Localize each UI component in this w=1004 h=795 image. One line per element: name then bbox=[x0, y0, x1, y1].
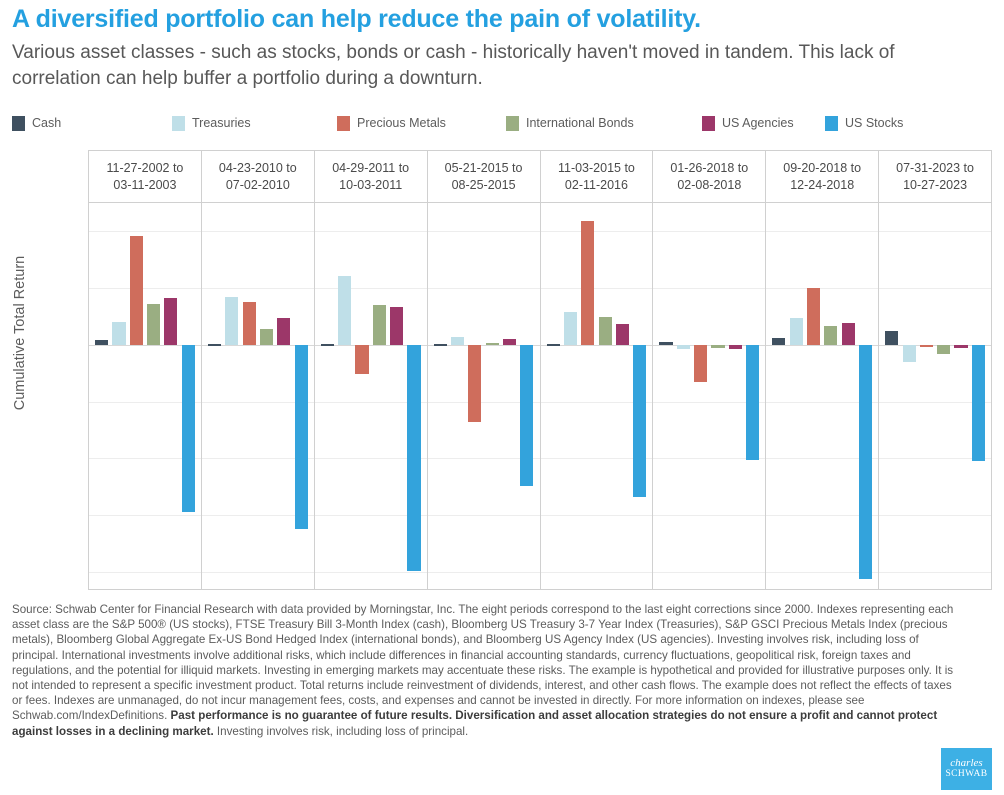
bar-cash bbox=[208, 344, 221, 346]
bar-treasuries bbox=[451, 337, 464, 345]
chart-panel-6 bbox=[653, 203, 766, 589]
bar-slot bbox=[545, 203, 562, 589]
chart-panel-4 bbox=[428, 203, 541, 589]
bar-us-stocks bbox=[859, 345, 872, 579]
bar-precious-metals bbox=[468, 345, 481, 422]
facet-header-6: 01-26-2018 to02-08-2018 bbox=[653, 151, 766, 202]
bar-international-bonds bbox=[373, 305, 386, 345]
bar-group bbox=[202, 203, 314, 589]
bar-precious-metals bbox=[243, 302, 256, 345]
bar-slot bbox=[970, 203, 987, 589]
chart-panel-5 bbox=[541, 203, 654, 589]
bar-slot bbox=[675, 203, 692, 589]
bar-slot bbox=[484, 203, 501, 589]
legend-item-us-agencies: US Agencies bbox=[702, 114, 794, 132]
facet-date-start: 04-29-2011 to bbox=[332, 160, 409, 177]
bar-slot bbox=[657, 203, 674, 589]
facet-date-end: 02-08-2018 bbox=[677, 177, 741, 194]
bar-precious-metals bbox=[807, 288, 820, 345]
bar-us-agencies bbox=[954, 345, 967, 348]
legend-label: Precious Metals bbox=[357, 116, 446, 131]
plot-area: 11-27-2002 to03-11-200304-23-2010 to07-0… bbox=[88, 150, 992, 591]
page-subtitle: Various asset classes - such as stocks, … bbox=[12, 40, 972, 92]
bar-international-bonds bbox=[260, 329, 273, 345]
facet-header-7: 09-20-2018 to12-24-2018 bbox=[766, 151, 879, 202]
legend-swatch-icon bbox=[825, 116, 838, 131]
facet-date-end: 08-25-2015 bbox=[452, 177, 516, 194]
bar-group bbox=[541, 203, 653, 589]
bar-slot bbox=[805, 203, 822, 589]
bar-group bbox=[766, 203, 878, 589]
bar-slot bbox=[579, 203, 596, 589]
page-title: A diversified portfolio can help reduce … bbox=[12, 4, 992, 34]
bar-slot bbox=[822, 203, 839, 589]
bar-slot bbox=[501, 203, 518, 589]
chart-page: A diversified portfolio can help reduce … bbox=[0, 0, 1004, 795]
bar-slot bbox=[466, 203, 483, 589]
bar-us-agencies bbox=[503, 339, 516, 345]
bar-slot bbox=[336, 203, 353, 589]
chart-panel-1 bbox=[89, 203, 202, 589]
legend-label: Cash bbox=[32, 116, 61, 131]
bar-cash bbox=[95, 340, 108, 345]
facet-header-5: 11-03-2015 to02-11-2016 bbox=[541, 151, 654, 202]
legend-swatch-icon bbox=[337, 116, 350, 131]
bar-group bbox=[315, 203, 427, 589]
bar-treasuries bbox=[903, 345, 916, 362]
bar-cash bbox=[321, 344, 334, 346]
bar-slot bbox=[883, 203, 900, 589]
bar-slot bbox=[900, 203, 917, 589]
bar-group bbox=[653, 203, 765, 589]
bar-precious-metals bbox=[694, 345, 707, 382]
bar-cash bbox=[659, 342, 672, 345]
legend-item-treasuries: Treasuries bbox=[172, 114, 251, 132]
legend-swatch-icon bbox=[12, 116, 25, 131]
legend-swatch-icon bbox=[506, 116, 519, 131]
facet-date-end: 12-24-2018 bbox=[790, 177, 854, 194]
facet-date-start: 04-23-2010 to bbox=[219, 160, 297, 177]
facet-header-3: 04-29-2011 to10-03-2011 bbox=[315, 151, 428, 202]
bar-slot bbox=[241, 203, 258, 589]
chart-container: Cumulative Total Return 10%5%0%-5%-10%-1… bbox=[0, 150, 1004, 595]
bar-us-stocks bbox=[633, 345, 646, 497]
facet-header-row: 11-27-2002 to03-11-200304-23-2010 to07-0… bbox=[88, 150, 992, 202]
bar-slot bbox=[371, 203, 388, 589]
bar-slot bbox=[840, 203, 857, 589]
bar-slot bbox=[596, 203, 613, 589]
bar-slot bbox=[562, 203, 579, 589]
bar-us-stocks bbox=[972, 345, 985, 461]
logo-schwab-text: SCHWAB bbox=[946, 770, 988, 780]
bar-slot bbox=[405, 203, 422, 589]
bar-us-stocks bbox=[407, 345, 420, 571]
bar-slot bbox=[432, 203, 449, 589]
bar-precious-metals bbox=[920, 345, 933, 347]
bar-cash bbox=[885, 331, 898, 345]
bar-us-stocks bbox=[295, 345, 308, 529]
facet-header-4: 05-21-2015 to08-25-2015 bbox=[428, 151, 541, 202]
facet-date-start: 05-21-2015 to bbox=[445, 160, 523, 177]
footnote-part2: Investing involves risk, including loss … bbox=[214, 725, 469, 738]
bar-slot bbox=[857, 203, 874, 589]
legend-label: US Agencies bbox=[722, 116, 794, 131]
bar-group bbox=[428, 203, 540, 589]
legend-item-us-stocks: US Stocks bbox=[825, 114, 903, 132]
bar-us-stocks bbox=[746, 345, 759, 460]
bar-slot bbox=[744, 203, 761, 589]
bar-slot bbox=[952, 203, 969, 589]
bar-slot bbox=[518, 203, 535, 589]
legend-item-cash: Cash bbox=[12, 114, 61, 132]
y-axis: 10%5%0%-5%-10%-15%-20% bbox=[0, 202, 88, 590]
bar-slot bbox=[319, 203, 336, 589]
bar-slot bbox=[614, 203, 631, 589]
legend-label: US Stocks bbox=[845, 116, 903, 131]
bar-slot bbox=[449, 203, 466, 589]
facet-date-start: 01-26-2018 to bbox=[670, 160, 748, 177]
bar-slot bbox=[692, 203, 709, 589]
bar-us-agencies bbox=[616, 324, 629, 344]
bar-slot bbox=[162, 203, 179, 589]
bar-slot bbox=[180, 203, 197, 589]
bar-cash bbox=[772, 338, 785, 345]
bar-slot bbox=[275, 203, 292, 589]
bar-treasuries bbox=[112, 322, 125, 345]
bar-slot bbox=[788, 203, 805, 589]
facet-date-end: 02-11-2016 bbox=[565, 177, 628, 194]
bar-slot bbox=[631, 203, 648, 589]
legend-swatch-icon bbox=[702, 116, 715, 131]
legend-item-international-bonds: International Bonds bbox=[506, 114, 634, 132]
facet-panels bbox=[88, 202, 992, 590]
facet-date-start: 11-03-2015 to bbox=[558, 160, 635, 177]
facet-header-2: 04-23-2010 to07-02-2010 bbox=[202, 151, 315, 202]
chart-legend: CashTreasuriesPrecious MetalsInternation… bbox=[12, 114, 992, 132]
bar-slot bbox=[110, 203, 127, 589]
bar-international-bonds bbox=[937, 345, 950, 354]
charles-schwab-logo: charles SCHWAB bbox=[941, 748, 992, 790]
bar-international-bonds bbox=[711, 345, 724, 348]
bar-slot bbox=[353, 203, 370, 589]
bar-treasuries bbox=[338, 276, 351, 345]
facet-date-start: 07-31-2023 to bbox=[896, 160, 974, 177]
chart-panel-8 bbox=[879, 203, 991, 589]
bar-us-agencies bbox=[277, 318, 290, 345]
bar-us-agencies bbox=[842, 323, 855, 345]
footnote: Source: Schwab Center for Financial Rese… bbox=[12, 602, 964, 739]
facet-header-8: 07-31-2023 to10-27-2023 bbox=[879, 151, 991, 202]
bar-slot bbox=[770, 203, 787, 589]
bar-precious-metals bbox=[130, 236, 143, 345]
facet-date-end: 10-03-2011 bbox=[339, 177, 402, 194]
bar-slot bbox=[709, 203, 726, 589]
legend-label: International Bonds bbox=[526, 116, 634, 131]
bar-group bbox=[89, 203, 201, 589]
bar-slot bbox=[206, 203, 223, 589]
facet-date-end: 03-11-2003 bbox=[113, 177, 176, 194]
bar-precious-metals bbox=[355, 345, 368, 375]
bar-cash bbox=[434, 344, 447, 346]
bar-treasuries bbox=[225, 297, 238, 345]
bar-us-agencies bbox=[390, 307, 403, 344]
bar-us-agencies bbox=[164, 298, 177, 345]
bar-slot bbox=[223, 203, 240, 589]
bar-slot bbox=[935, 203, 952, 589]
bar-us-stocks bbox=[520, 345, 533, 486]
bar-cash bbox=[547, 344, 560, 346]
facet-date-start: 09-20-2018 to bbox=[783, 160, 861, 177]
bar-treasuries bbox=[790, 318, 803, 345]
chart-panel-3 bbox=[315, 203, 428, 589]
facet-header-1: 11-27-2002 to03-11-2003 bbox=[89, 151, 202, 202]
chart-panel-7 bbox=[766, 203, 879, 589]
chart-panel-2 bbox=[202, 203, 315, 589]
bar-slot bbox=[292, 203, 309, 589]
facet-date-end: 10-27-2023 bbox=[903, 177, 967, 194]
bar-group bbox=[879, 203, 991, 589]
bar-precious-metals bbox=[581, 221, 594, 345]
facet-date-start: 11-27-2002 to bbox=[106, 160, 183, 177]
footnote-part1: Source: Schwab Center for Financial Rese… bbox=[12, 603, 953, 722]
legend-item-precious-metals: Precious Metals bbox=[337, 114, 446, 132]
bar-us-agencies bbox=[729, 345, 742, 350]
bar-slot bbox=[918, 203, 935, 589]
bar-us-stocks bbox=[182, 345, 195, 512]
bar-slot bbox=[388, 203, 405, 589]
facet-date-end: 07-02-2010 bbox=[226, 177, 290, 194]
bar-treasuries bbox=[677, 345, 690, 350]
bar-international-bonds bbox=[486, 343, 499, 345]
bar-slot bbox=[128, 203, 145, 589]
legend-label: Treasuries bbox=[192, 116, 251, 131]
bar-treasuries bbox=[564, 312, 577, 345]
bar-international-bonds bbox=[147, 304, 160, 345]
bar-international-bonds bbox=[824, 326, 837, 345]
bar-international-bonds bbox=[599, 317, 612, 345]
bar-slot bbox=[727, 203, 744, 589]
bar-slot bbox=[145, 203, 162, 589]
bar-slot bbox=[258, 203, 275, 589]
logo-charles-text: charles bbox=[950, 758, 982, 769]
legend-swatch-icon bbox=[172, 116, 185, 131]
bar-slot bbox=[93, 203, 110, 589]
